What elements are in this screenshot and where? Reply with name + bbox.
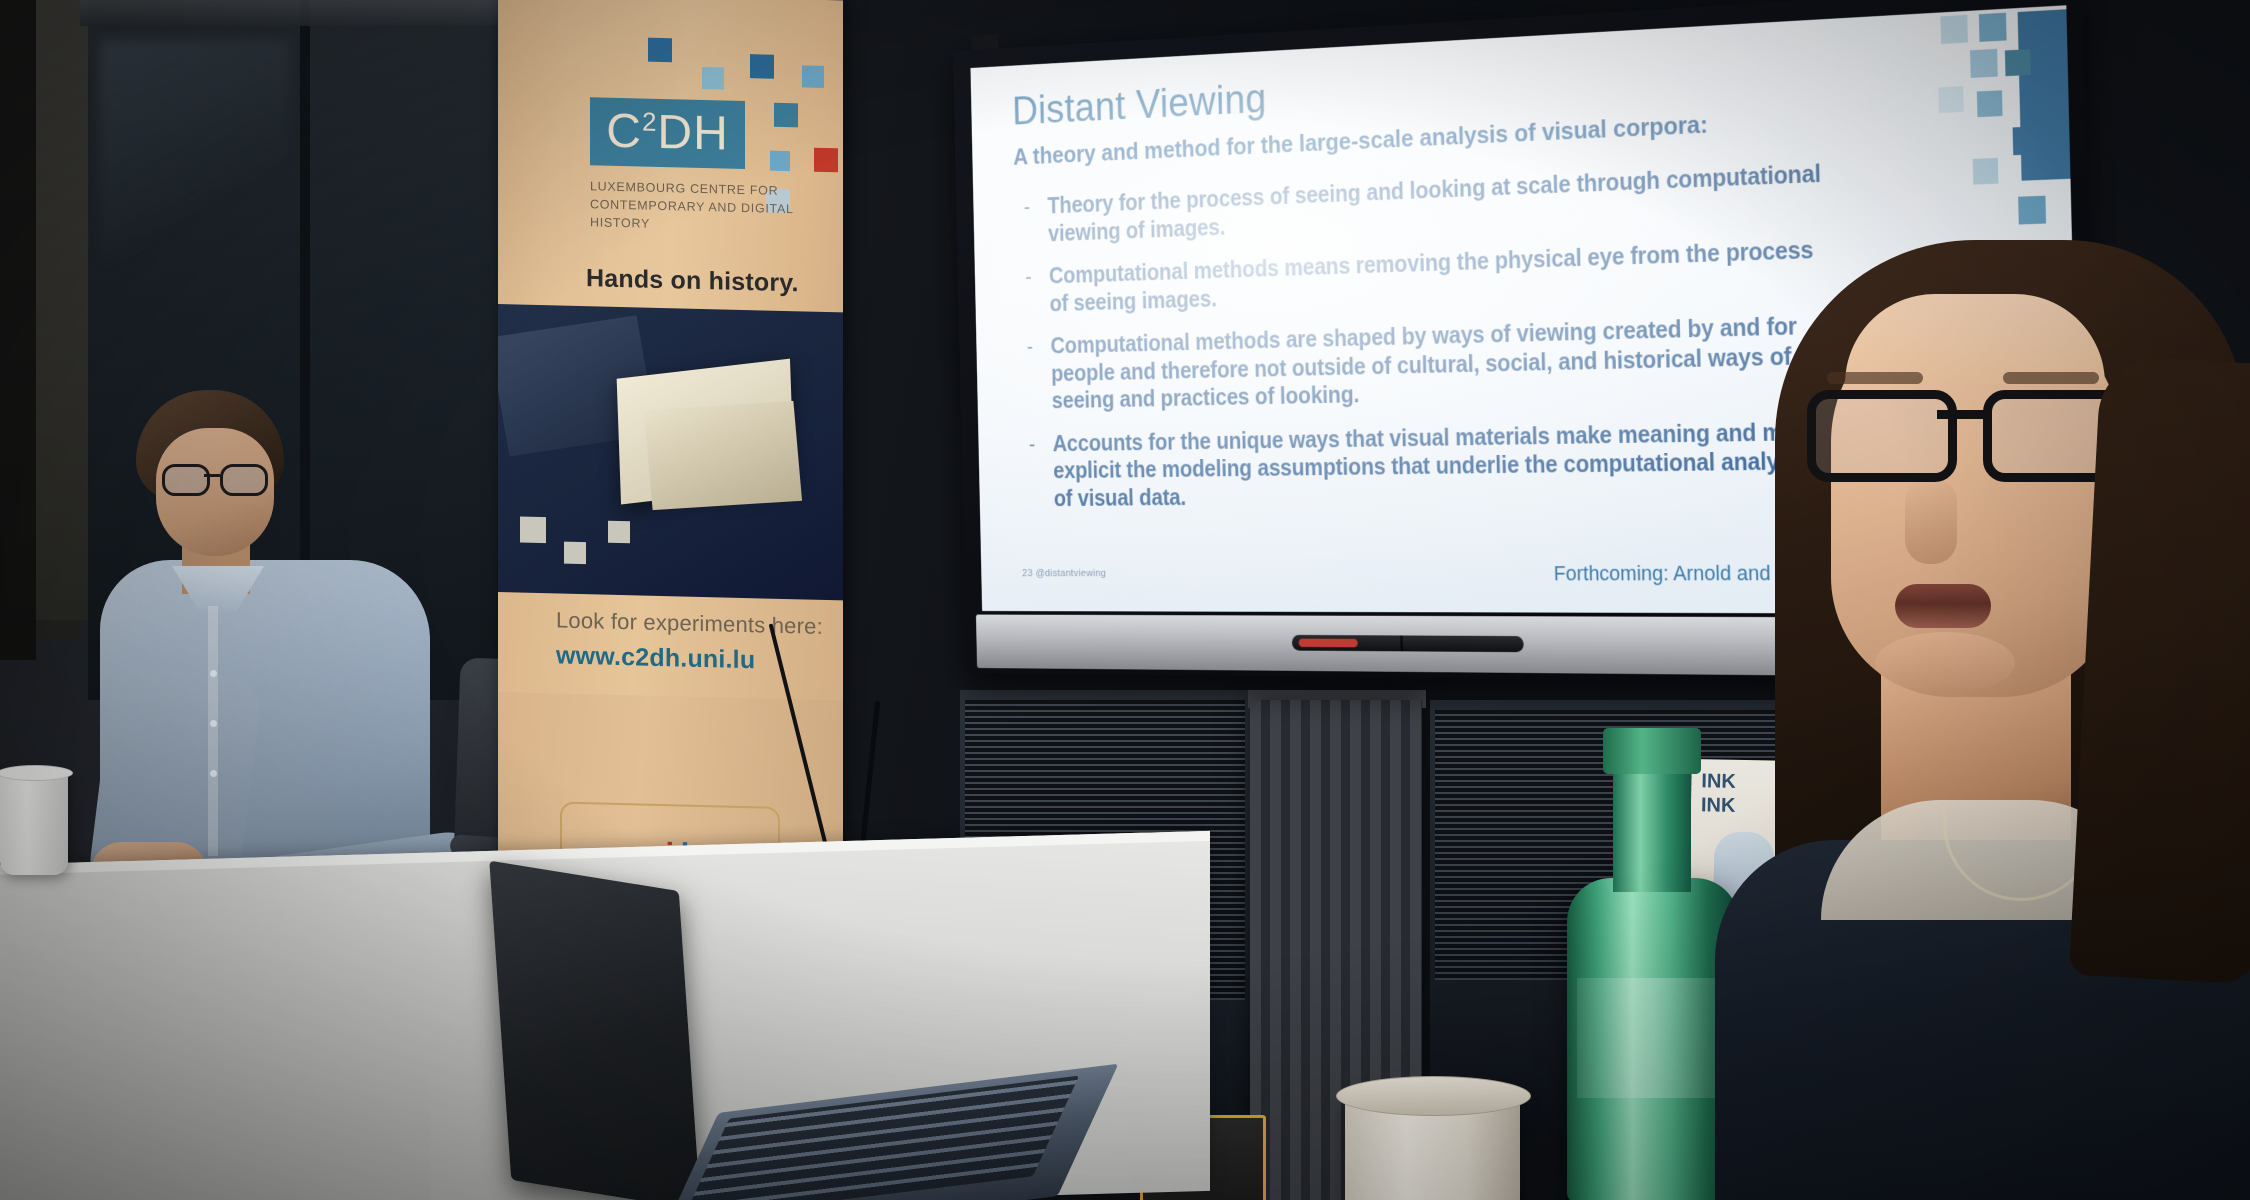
paper-cup-left [0,770,68,875]
laptop-lid [489,861,701,1200]
cup-lid [1336,1076,1531,1116]
c2dh-logo-superscript: 2 [642,107,657,137]
banner-url: www.c2dh.uni.lu [556,641,755,675]
window-reflection [100,40,290,270]
woman-mouth [1895,584,1991,628]
eyeglass-lens-left [1807,390,1957,482]
person-speaking-woman [1755,240,2250,1200]
woman-hair-front-strand [2069,355,2250,984]
pixel-square [608,521,630,544]
bottle-neck [1613,772,1691,892]
bottle-label [1577,978,1729,1098]
pixel-square [520,517,546,544]
woman-eyeglasses [1807,390,2127,468]
slide-bullet: - Accounts for the unique ways that visu… [1019,417,1838,513]
pixel-square [564,542,586,565]
slide-bullet: - Theory for the process of seeing and l… [1014,159,1831,249]
woman-eyebrow-right [2003,372,2099,384]
man-shirt-button [210,720,217,727]
bullet-text: Accounts for the unique ways that visual… [1052,417,1838,513]
bullet-marker: - [1017,333,1052,416]
man-shirt-button [210,670,217,677]
man-shirt-placket [208,606,218,856]
pixel-square-red [814,148,838,173]
woman-chin [1875,632,2015,694]
banner-tagline: Hands on history. [586,264,799,298]
pixel-square [648,38,672,63]
banner-top-section: C2DH LUXEMBOURG CENTRE FOR CONTEMPORARY … [498,0,843,330]
bottle-cap [1603,728,1701,774]
banner-photo-book-pages [644,401,802,510]
slide-bullet: - Computational methods means removing t… [1016,235,1834,318]
stylus-seam [1400,635,1403,651]
eyeglass-bridge [1937,410,1987,419]
bullet-text: Computational methods are shaped by ways… [1050,311,1835,415]
pixel-square [770,151,790,171]
wall-panel [36,0,88,620]
slide-bullet: - Computational methods are shaped by wa… [1017,311,1836,415]
coffee-cup-right [1345,1092,1520,1200]
stylus-pen [1292,635,1524,652]
pixel-square [702,67,724,90]
pixel-square [774,103,798,128]
banner-look-for-label: Look for experiments here: [556,607,823,640]
cup-rim [0,765,73,781]
display-sensor [971,34,998,50]
bullet-text: Computational methods means removing the… [1049,235,1833,317]
room-photo-scene: C2DH LUXEMBOURG CENTRE FOR CONTEMPORARY … [0,0,2250,1200]
pixel-square [802,65,824,88]
wall-left-edge [0,0,36,660]
c2dh-subtitle: LUXEMBOURG CENTRE FOR CONTEMPORARY AND D… [590,177,820,237]
man-eyeglasses [162,464,268,491]
c2dh-logo-dh: DH [657,106,728,161]
slide-bullet-list: - Theory for the process of seeing and l… [1014,159,1838,513]
bullet-text: Theory for the process of seeing and loo… [1047,159,1831,247]
pixel-square [750,54,774,79]
woman-eyebrow-left [1827,372,1923,384]
woman-nose [1905,478,1957,564]
bullet-marker: - [1016,263,1050,319]
man-shirt-button [210,770,217,777]
c2dh-logo-c: C [606,105,642,159]
stylus-red-tip [1299,639,1358,648]
c2dh-subtitle-line2: CONTEMPORARY AND DIGITAL HISTORY [590,195,820,237]
c2dh-logo: C2DH [590,97,745,169]
bullet-marker: - [1019,430,1054,512]
bullet-marker: - [1014,193,1048,249]
banner-photo-panel [498,304,843,602]
slide-footer: 23 @distantviewing [1022,568,1106,579]
ceiling-strip [80,0,510,26]
